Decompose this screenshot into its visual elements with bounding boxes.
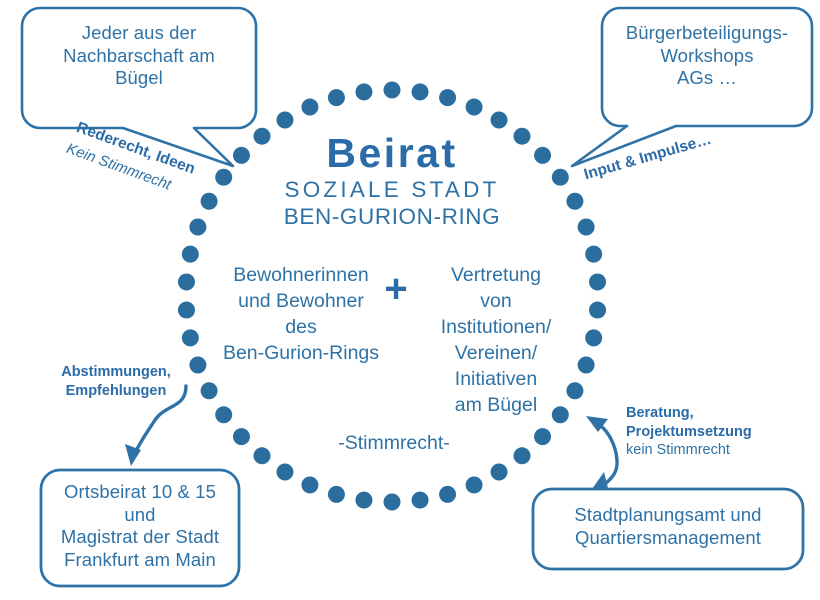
ring-dot bbox=[233, 147, 250, 164]
box-bottom-right-text: Stadtplanungsamt und Quartiersmanagement bbox=[537, 504, 799, 549]
ring-dot bbox=[182, 246, 199, 263]
page-title: Beirat bbox=[262, 128, 522, 178]
ring-dot bbox=[466, 476, 483, 493]
annotation-kein-stimmrecht-rechts: kein Stimmrecht bbox=[626, 441, 816, 460]
ring-dot bbox=[585, 329, 602, 346]
ring-dot bbox=[384, 494, 401, 511]
ring-dot bbox=[578, 356, 595, 373]
annotation-abstimmungen: Abstimmungen, Empfehlungen bbox=[42, 363, 190, 400]
center-right-column: Vertretung von Institutionen/ Vereinen/ … bbox=[420, 263, 572, 419]
bubble-top-left-text: Jeder aus der Nachbarschaft am Bügel bbox=[38, 22, 240, 90]
ring-dot bbox=[514, 447, 531, 464]
ring-dot bbox=[589, 302, 606, 319]
ring-dot bbox=[491, 111, 508, 128]
ring-dot bbox=[233, 428, 250, 445]
diagram-canvas: Jeder aus der Nachbarschaft am Bügel Red… bbox=[0, 0, 820, 600]
ring-dot bbox=[491, 464, 508, 481]
ring-dot bbox=[189, 356, 206, 373]
ring-dot bbox=[328, 89, 345, 106]
box-bottom-left-text: Ortsbeirat 10 & 15 und Magistrat der Sta… bbox=[42, 481, 238, 571]
ring-dot bbox=[534, 428, 551, 445]
ring-dot bbox=[534, 147, 551, 164]
ring-dot bbox=[201, 382, 218, 399]
ring-dot bbox=[439, 89, 456, 106]
ring-dot bbox=[566, 193, 583, 210]
ring-dot bbox=[215, 406, 232, 423]
ring-dot bbox=[328, 486, 345, 503]
ring-dot bbox=[585, 246, 602, 263]
ring-dot bbox=[355, 83, 372, 100]
ring-dot bbox=[578, 219, 595, 236]
ring-dot bbox=[384, 82, 401, 99]
page-subtitle-2: BEN-GURION-RING bbox=[252, 203, 532, 230]
bubble-top-right-text: Bürgerbeteiligungs- Workshops AGs … bbox=[612, 22, 802, 90]
plus-symbol: + bbox=[383, 265, 409, 314]
ring-dot bbox=[466, 99, 483, 116]
ring-dot bbox=[439, 486, 456, 503]
ring-dot bbox=[189, 219, 206, 236]
ring-dot bbox=[412, 83, 429, 100]
center-left-column: Bewohnerinnen und Bewohner des Ben-Gurio… bbox=[212, 263, 390, 367]
arrow-beratung-double bbox=[586, 416, 617, 489]
ring-dot bbox=[589, 273, 606, 290]
ring-dot bbox=[182, 329, 199, 346]
ring-dot bbox=[276, 464, 293, 481]
ring-dot bbox=[215, 169, 232, 186]
ring-dot bbox=[201, 193, 218, 210]
ring-dot bbox=[552, 169, 569, 186]
center-footer-note: -Stimmrecht- bbox=[320, 432, 468, 456]
ring-dot bbox=[178, 302, 195, 319]
annotation-beratung: Beratung, Projektumsetzung bbox=[626, 404, 816, 441]
ring-dot bbox=[178, 273, 195, 290]
ring-dot bbox=[276, 111, 293, 128]
page-subtitle-1: SOZIALE STADT bbox=[262, 176, 522, 203]
ring-dot bbox=[301, 476, 318, 493]
ring-dot bbox=[301, 99, 318, 116]
ring-dot bbox=[355, 492, 372, 509]
ring-dot bbox=[254, 447, 271, 464]
ring-dot bbox=[412, 492, 429, 509]
